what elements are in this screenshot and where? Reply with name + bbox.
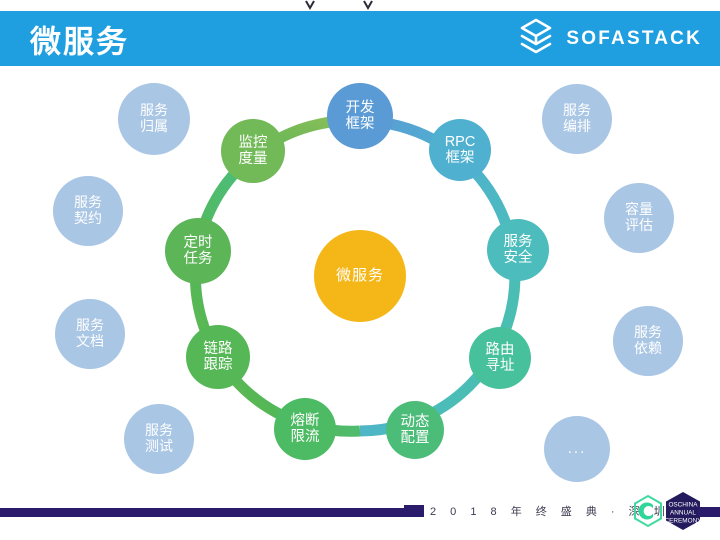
outer-node-label-line1: 服务 [145,423,173,439]
ring-node-label-line2: 寻址 [486,358,515,374]
brand-logo: SOFASTACK [516,18,702,60]
ring-node-scheduled-task[interactable]: 定时 任务 [165,218,231,284]
microservice-ring-diagram: 微服务 开发 框架 RPC 框架 服务 安全 路由 寻址 动态 配置 熔断 限流 [0,66,720,486]
oschina-logo-line1: OSCHINA [668,502,698,509]
ring-node-label-line2: 限流 [291,429,320,445]
outer-node-label-line1: 服务 [140,103,168,119]
ring-node-label-line2: 跟踪 [204,357,233,373]
oschina-logo-line2: ANNUAL [670,510,696,517]
ring-node-label-line1: 监控 [239,135,268,151]
outer-node-service-contract[interactable]: 服务 契约 [53,176,123,246]
outer-node-label-line1: ... [568,441,587,458]
outer-node-service-test[interactable]: 服务 测试 [124,404,194,474]
ring-node-label-line1: 服务 [504,234,533,250]
ring-node-label-line2: 配置 [401,430,430,446]
outer-node-label-line1: 容量 [625,202,653,218]
center-node-microservice[interactable]: 微服务 [314,230,406,322]
outer-node-label-line1: 服务 [76,318,104,334]
center-node-label: 微服务 [336,268,384,285]
ring-node-label-line1: 链路 [204,341,233,357]
outer-node-more[interactable]: ... [544,416,610,482]
outer-node-label-line1: 服务 [634,325,662,341]
outer-node-label-line2: 归属 [140,119,168,135]
outer-node-label-line1: 服务 [563,103,591,119]
brand-name: SOFASTACK [566,28,702,50]
ring-node-dynamic-config[interactable]: 动态 配置 [386,401,444,459]
decorative-tick-right [363,0,373,11]
footer: 2 0 1 8 年 终 盛 典 · 深 圳 OSCHINA ANNUAL CER… [0,486,720,540]
ring-node-label-line1: 熔断 [291,413,320,429]
outer-node-label-line2: 评估 [625,218,653,234]
outer-node-service-ownership[interactable]: 服务 归属 [118,83,190,155]
sofastack-logo-icon [516,18,556,60]
outer-node-label-line2: 依赖 [634,341,662,357]
ring-node-label-line1: 定时 [184,235,213,251]
outer-node-service-doc[interactable]: 服务 文档 [55,299,125,369]
outer-node-service-orchestration[interactable]: 服务 编排 [542,84,612,154]
outer-node-label-line2: 契约 [74,211,102,227]
page-title: 微服务 [30,16,129,61]
ring-node-label-line1: 开发 [346,100,375,116]
ring-node-label-line2: 框架 [346,116,375,132]
ring-node-tracing[interactable]: 链路 跟踪 [186,325,250,389]
ring-node-routing[interactable]: 路由 寻址 [469,327,531,389]
decorative-tick-left [305,0,315,11]
ring-node-rpc-framework[interactable]: RPC 框架 [429,119,491,181]
ring-node-circuit-breaker[interactable]: 熔断 限流 [274,398,336,460]
ring-node-dev-framework[interactable]: 开发 框架 [327,83,393,149]
oschina-ceremony-logo-icon: OSCHINA ANNUAL CEREMONY [626,486,720,540]
ring-node-label-line2: 框架 [446,150,475,166]
outer-node-service-dependency[interactable]: 服务 依赖 [613,306,683,376]
outer-node-label-line2: 测试 [145,439,173,455]
ring-node-label-line2: 度量 [239,151,268,167]
oschina-logo-line3: CEREMONY [665,518,703,525]
outer-node-label-line2: 编排 [563,119,591,135]
ring-node-service-security[interactable]: 服务 安全 [487,219,549,281]
ring-node-label-line1: 动态 [401,414,430,430]
ring-node-label-line2: 安全 [504,250,533,266]
outer-node-label-line2: 文档 [76,334,104,350]
ring-node-label-line1: RPC [445,134,476,150]
ring-node-label-line2: 任务 [184,251,213,267]
outer-node-capacity-estimation[interactable]: 容量 评估 [604,183,674,253]
slide-root: 微服务 SOFASTACK [0,0,720,540]
ring-node-label-line1: 路由 [486,342,515,358]
outer-node-label-line1: 服务 [74,195,102,211]
header-bar: 微服务 SOFASTACK [0,11,720,66]
ring-node-monitoring[interactable]: 监控 度量 [221,119,285,183]
